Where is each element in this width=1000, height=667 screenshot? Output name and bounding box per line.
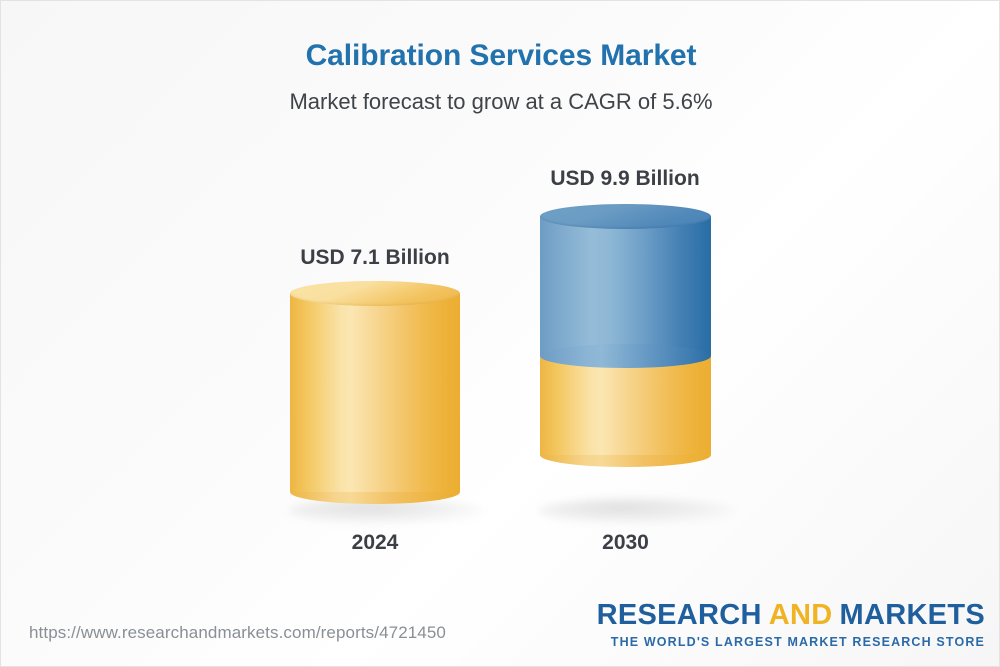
chart-canvas: Calibration Services Market Market forec… xyxy=(0,0,1000,667)
brand-word-research: RESEARCH xyxy=(597,599,762,631)
bar-value-label-2024: USD 7.1 Billion xyxy=(255,246,495,270)
cylinder-top-cap-2030 xyxy=(540,204,711,229)
brand-word-markets: MARKETS xyxy=(840,599,986,631)
cylinder-growth-bottom-cap-2030 xyxy=(540,344,711,368)
cylinder-top-cap-2024 xyxy=(290,281,460,306)
bar-category-label-2030: 2030 xyxy=(540,531,711,555)
bar-group-2030: USD 9.9 Billion 2030 xyxy=(540,161,711,531)
cylinder-2024 xyxy=(290,281,460,509)
brand-logo-wordmark: RESEARCHANDMARKETS xyxy=(597,601,985,630)
plot-area: USD 7.1 Billion 2024 USD 9.9 Billion xyxy=(1,1,1000,601)
bar-value-label-2030: USD 9.9 Billion xyxy=(505,167,745,191)
cylinder-growth-body-2030 xyxy=(540,216,711,356)
brand-word-and: AND xyxy=(769,599,833,631)
cylinder-body-2024 xyxy=(290,293,460,492)
bar-category-label-2024: 2024 xyxy=(290,531,460,555)
source-url[interactable]: https://www.researchandmarkets.com/repor… xyxy=(29,623,446,643)
cylinder-2030 xyxy=(540,204,711,509)
brand-logo[interactable]: RESEARCHANDMARKETS THE WORLD'S LARGEST M… xyxy=(597,601,985,649)
brand-tagline: THE WORLD'S LARGEST MARKET RESEARCH STOR… xyxy=(597,636,985,649)
bar-group-2024: USD 7.1 Billion 2024 xyxy=(290,201,460,531)
